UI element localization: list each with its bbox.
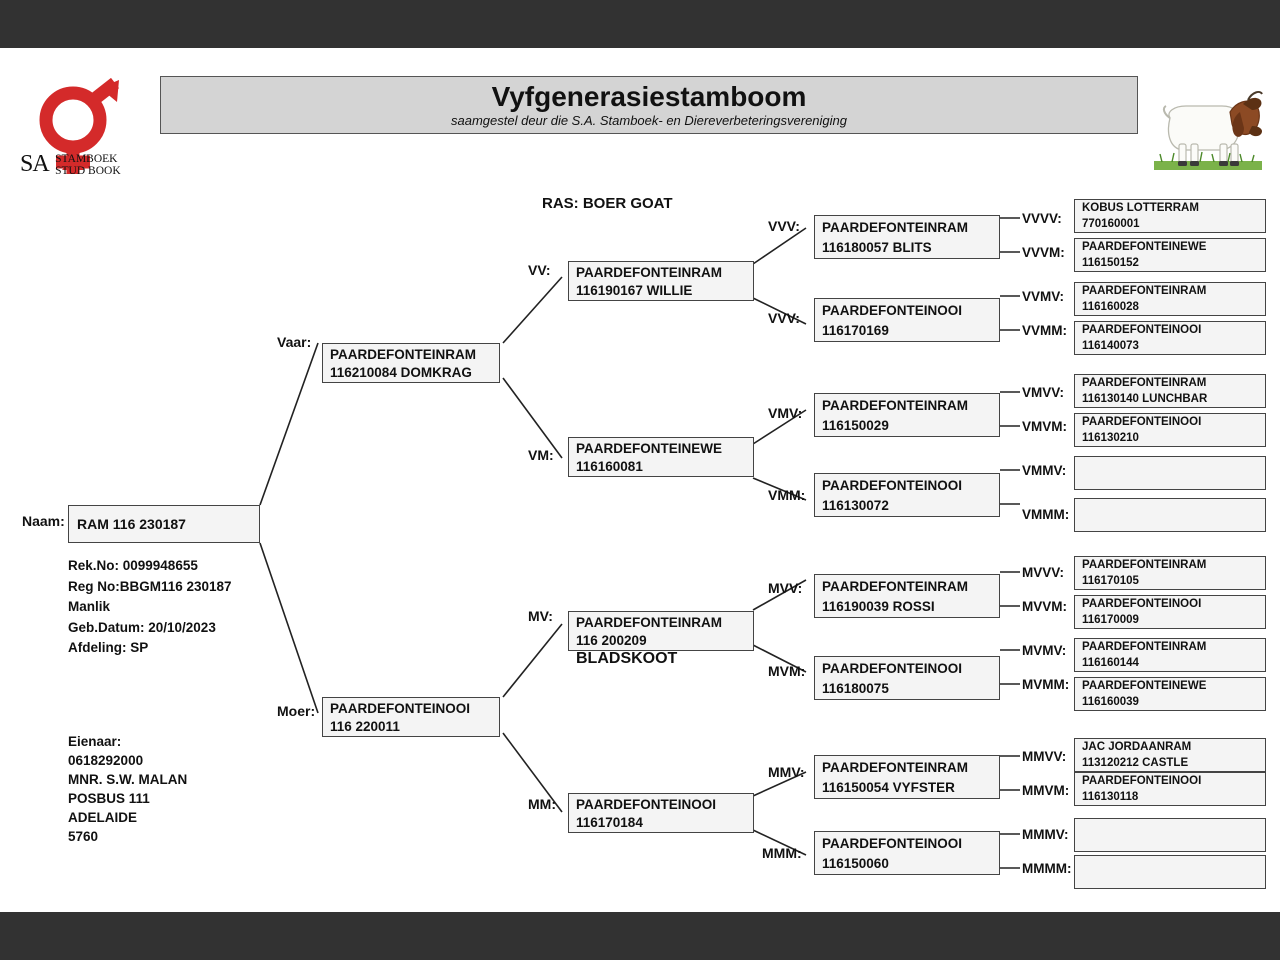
- owner-label: Eienaar:: [68, 732, 283, 751]
- tag-vvv: VVV:: [768, 218, 800, 234]
- node-mvv-line2: 116190039 ROSSI: [822, 597, 999, 617]
- tag-mvvv: MVVV:: [1022, 565, 1064, 580]
- tag-vmmv: VMMV:: [1022, 463, 1066, 478]
- owner-postcode: 5760: [68, 827, 283, 846]
- node-vmm[interactable]: PAARDEFONTEINOOI 116130072: [814, 473, 1000, 517]
- tag-vaar: Vaar:: [277, 334, 311, 350]
- tag-mvmm: MVMM:: [1022, 677, 1069, 692]
- breed-label: RAS: BOER GOAT: [542, 195, 673, 212]
- node-mvvm-line2: 116170009: [1082, 613, 1265, 629]
- node-vaar[interactable]: PAARDEFONTEINRAM 116210084 DOMKRAG: [322, 343, 500, 383]
- node-mvmm-line2: 116160039: [1082, 695, 1265, 711]
- tag-mvm: MVM:: [768, 663, 805, 679]
- node-mvm[interactable]: PAARDEFONTEINOOI 116180075: [814, 656, 1000, 700]
- tag-mvmv: MVMV:: [1022, 643, 1066, 658]
- node-mvv[interactable]: PAARDEFONTEINRAM 116190039 ROSSI: [814, 574, 1000, 618]
- node-mvvv-line2: 116170105: [1082, 574, 1265, 590]
- node-mvm-line1: PAARDEFONTEINOOI: [822, 659, 999, 679]
- node-vv-line1: PAARDEFONTEINRAM: [576, 264, 753, 282]
- owner-name: MNR. S.W. MALAN: [68, 770, 283, 789]
- tag-mmmv: MMMV:: [1022, 827, 1069, 842]
- tag-mmmm: MMMM:: [1022, 861, 1071, 876]
- logo-sa-text: SA: [20, 151, 49, 177]
- boer-goat-illustration: [1148, 82, 1268, 178]
- node-mvvv[interactable]: PAARDEFONTEINRAM 116170105: [1074, 556, 1266, 590]
- node-mmm-line1: PAARDEFONTEINOOI: [822, 834, 999, 854]
- tag-vvvv: VVVV:: [1022, 211, 1062, 226]
- owner-block: Eienaar: 0618292000 MNR. S.W. MALAN POSB…: [68, 732, 283, 846]
- node-vvmm-line1: PAARDEFONTEINOOI: [1082, 323, 1265, 339]
- subject-name-value: RAM 116 230187: [77, 516, 186, 532]
- node-vmmv[interactable]: [1074, 456, 1266, 490]
- subject-name-label: Naam:: [22, 513, 65, 529]
- node-mvmv-line1: PAARDEFONTEINRAM: [1082, 640, 1265, 656]
- logo-studbook-words: STAMBOEK STUD BOOK: [53, 152, 121, 177]
- node-mv-line3: BLADSKOOT: [576, 650, 753, 668]
- node-vvvv[interactable]: KOBUS LOTTERRAM 770160001: [1074, 199, 1266, 233]
- tag-mvvm: MVVM:: [1022, 599, 1067, 614]
- node-mvmv-line2: 116160144: [1082, 656, 1265, 672]
- node-vvm-line1: PAARDEFONTEINOOI: [822, 301, 999, 321]
- node-vmvm-line1: PAARDEFONTEINOOI: [1082, 415, 1265, 431]
- detail-afdeling: Afdeling: SP: [68, 638, 283, 659]
- node-mvvm[interactable]: PAARDEFONTEINOOI 116170009: [1074, 595, 1266, 629]
- node-mmv-line1: PAARDEFONTEINRAM: [822, 758, 999, 778]
- tag-vvm: VVV:: [768, 310, 800, 326]
- node-vvmv-line2: 116160028: [1082, 300, 1265, 316]
- node-vmvm[interactable]: PAARDEFONTEINOOI 116130210: [1074, 413, 1266, 447]
- node-mm-line2: 116170184: [576, 814, 753, 832]
- node-vvvm[interactable]: PAARDEFONTEINEWE 116150152: [1074, 238, 1266, 272]
- node-mmvv[interactable]: JAC JORDAANRAM 113120212 CASTLE: [1074, 738, 1266, 772]
- pedigree-page: SA STAMBOEK STUD BOOK Vyfgenerasiestambo…: [0, 0, 1280, 960]
- node-vvv[interactable]: PAARDEFONTEINRAM 116180057 BLITS: [814, 215, 1000, 259]
- node-vvvv-line2: 770160001: [1082, 217, 1265, 233]
- node-vvm-line2: 116170169: [822, 321, 999, 341]
- node-moer[interactable]: PAARDEFONTEINOOI 116 220011: [322, 697, 500, 737]
- node-vmv-line2: 116150029: [822, 416, 999, 436]
- node-mmm[interactable]: PAARDEFONTEINOOI 116150060: [814, 831, 1000, 875]
- node-vmmm[interactable]: [1074, 498, 1266, 532]
- node-vvm[interactable]: PAARDEFONTEINOOI 116170169: [814, 298, 1000, 342]
- tag-mmm: MMM:: [762, 845, 802, 861]
- node-vmvv-line1: PAARDEFONTEINRAM: [1082, 376, 1265, 392]
- tag-mvv: MVV:: [768, 580, 802, 596]
- node-mmvm-line2: 116130118: [1082, 790, 1265, 806]
- tag-mmv: MMV:: [768, 764, 805, 780]
- tag-vvvm: VVVM:: [1022, 245, 1065, 260]
- node-vv-line2: 116190167 WILLIE: [576, 282, 753, 300]
- node-vmm-line2: 116130072: [822, 496, 999, 516]
- node-mmv[interactable]: PAARDEFONTEINRAM 116150054 VYFSTER: [814, 755, 1000, 799]
- node-mmv-line2: 116150054 VYFSTER: [822, 778, 999, 798]
- page-title: Vyfgenerasiestamboom: [492, 82, 807, 112]
- tag-vmvv: VMVV:: [1022, 385, 1064, 400]
- node-mmvm[interactable]: PAARDEFONTEINOOI 116130118: [1074, 772, 1266, 806]
- node-mvvm-line1: PAARDEFONTEINOOI: [1082, 597, 1265, 613]
- node-mmvm-line1: PAARDEFONTEINOOI: [1082, 774, 1265, 790]
- page-subtitle: saamgestel deur die S.A. Stamboek- en Di…: [451, 113, 847, 129]
- owner-city: ADELAIDE: [68, 808, 283, 827]
- node-vmvm-line2: 116130210: [1082, 431, 1265, 447]
- node-mv[interactable]: PAARDEFONTEINRAM 116 200209 BLADSKOOT: [568, 611, 754, 651]
- node-vmv-line1: PAARDEFONTEINRAM: [822, 396, 999, 416]
- bottom-letterbox-bar: [0, 912, 1280, 960]
- subject-box[interactable]: RAM 116 230187: [68, 505, 260, 543]
- top-letterbox-bar: [0, 0, 1280, 48]
- tag-vmvm: VMVM:: [1022, 419, 1067, 434]
- node-mmvv-line2: 113120212 CASTLE: [1082, 756, 1265, 772]
- logo-wordmark: SA STAMBOEK STUD BOOK: [20, 152, 160, 177]
- node-vvmm[interactable]: PAARDEFONTEINOOI 116140073: [1074, 321, 1266, 355]
- tag-mmvv: MMVV:: [1022, 749, 1066, 764]
- tag-vm: VM:: [528, 447, 554, 463]
- logo-line1: STAMBOEK: [55, 153, 117, 165]
- node-vvv-line1: PAARDEFONTEINRAM: [822, 218, 999, 238]
- node-mvvv-line1: PAARDEFONTEINRAM: [1082, 558, 1265, 574]
- node-vvvm-line1: PAARDEFONTEINEWE: [1082, 240, 1265, 256]
- detail-sex: Manlik: [68, 597, 283, 618]
- detail-rek-no: Rek.No: 0099948655: [68, 556, 283, 577]
- node-mm-line1: PAARDEFONTEINOOI: [576, 796, 753, 814]
- detail-birthdate: Geb.Datum: 20/10/2023: [68, 618, 283, 639]
- title-banner: Vyfgenerasiestamboom saamgestel deur die…: [160, 76, 1138, 134]
- node-mvmm-line1: PAARDEFONTEINEWE: [1082, 679, 1265, 695]
- node-vv[interactable]: PAARDEFONTEINRAM 116190167 WILLIE: [568, 261, 754, 301]
- node-mvmm[interactable]: PAARDEFONTEINEWE 116160039: [1074, 677, 1266, 711]
- tag-vvmm: VVMM:: [1022, 323, 1067, 338]
- node-vvmv[interactable]: PAARDEFONTEINRAM 116160028: [1074, 282, 1266, 316]
- node-vmv[interactable]: PAARDEFONTEINRAM 116150029: [814, 393, 1000, 437]
- tag-vmmm: VMMM:: [1022, 507, 1069, 522]
- tag-mv: MV:: [528, 608, 553, 624]
- node-vmvv-line2: 116130140 LUNCHBAR: [1082, 392, 1265, 408]
- node-vm-line2: 116160081: [576, 458, 753, 476]
- node-vvv-line2: 116180057 BLITS: [822, 238, 999, 258]
- node-vmvv[interactable]: PAARDEFONTEINRAM 116130140 LUNCHBAR: [1074, 374, 1266, 408]
- node-mv-line1: PAARDEFONTEINRAM: [576, 614, 753, 632]
- owner-number: 0618292000: [68, 751, 283, 770]
- node-vvvm-line2: 116150152: [1082, 256, 1265, 272]
- node-mmmv[interactable]: [1074, 818, 1266, 852]
- node-mvm-line2: 116180075: [822, 679, 999, 699]
- node-mv-line2: 116 200209: [576, 632, 753, 650]
- node-vvvv-line1: KOBUS LOTTERRAM: [1082, 201, 1265, 217]
- node-mvv-line1: PAARDEFONTEINRAM: [822, 577, 999, 597]
- node-vm[interactable]: PAARDEFONTEINEWE 116160081: [568, 437, 754, 477]
- tag-vvmv: VVMV:: [1022, 289, 1064, 304]
- node-vaar-line1: PAARDEFONTEINRAM: [330, 346, 499, 364]
- logo-line2: STUD BOOK: [55, 165, 121, 177]
- tag-moer: Moer:: [277, 703, 315, 719]
- tag-vmv: VMV:: [768, 405, 802, 421]
- node-mvmv[interactable]: PAARDEFONTEINRAM 116160144: [1074, 638, 1266, 672]
- tag-mmvm: MMVM:: [1022, 783, 1069, 798]
- node-vvmm-line2: 116140073: [1082, 339, 1265, 355]
- tag-vv: VV:: [528, 262, 551, 278]
- node-moer-line2: 116 220011: [330, 718, 499, 736]
- subject-details: Rek.No: 0099948655 Reg No:BBGM116 230187…: [68, 556, 283, 659]
- tag-mm: MM:: [528, 796, 556, 812]
- detail-reg-no: Reg No:BBGM116 230187: [68, 577, 283, 598]
- node-mmvv-line1: JAC JORDAANRAM: [1082, 740, 1265, 756]
- node-mmm-line2: 116150060: [822, 854, 999, 874]
- node-vm-line1: PAARDEFONTEINEWE: [576, 440, 753, 458]
- node-mmmm[interactable]: [1074, 855, 1266, 889]
- node-vvmv-line1: PAARDEFONTEINRAM: [1082, 284, 1265, 300]
- node-vmm-line1: PAARDEFONTEINOOI: [822, 476, 999, 496]
- node-mm[interactable]: PAARDEFONTEINOOI 116170184: [568, 793, 754, 833]
- node-vaar-line2: 116210084 DOMKRAG: [330, 364, 499, 382]
- tag-vmm: VMM:: [768, 487, 805, 503]
- node-moer-line1: PAARDEFONTEINOOI: [330, 700, 499, 718]
- owner-address: POSBUS 111: [68, 789, 283, 808]
